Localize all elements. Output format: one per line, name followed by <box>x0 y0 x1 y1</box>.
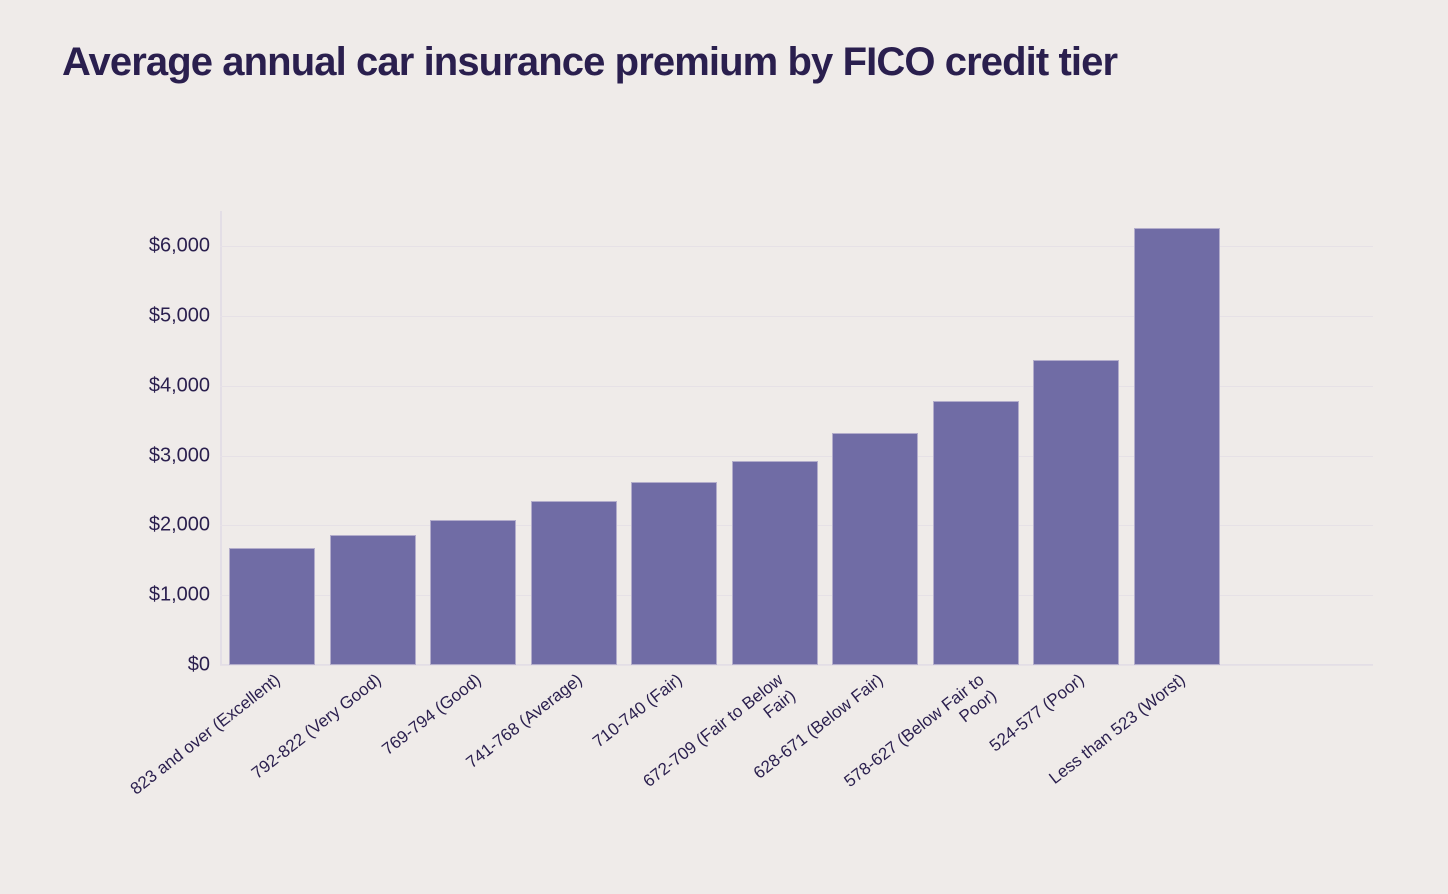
x-axis-tick-label: 769-794 (Good) <box>268 670 485 846</box>
x-axis-tick-label: 792-822 (Very Good) <box>168 670 385 846</box>
gridline <box>220 665 1373 666</box>
y-axis-tick-label: $3,000 <box>90 444 210 467</box>
y-axis-tick-label: $4,000 <box>90 374 210 397</box>
bar[interactable] <box>1033 360 1119 665</box>
bar[interactable] <box>330 535 416 665</box>
bar[interactable] <box>631 482 717 665</box>
x-axis-tick-label: 710-740 (Fair) <box>469 670 686 846</box>
y-axis-tick-label: $2,000 <box>90 514 210 537</box>
chart-figure: $0$1,000$2,000$3,000$4,000$5,000$6,000 8… <box>0 0 1448 894</box>
x-axis-tick-label: Less than 523 (Worst) <box>972 670 1189 846</box>
bar[interactable] <box>933 401 1019 665</box>
x-axis-tick-label: 741-768 (Average) <box>369 670 586 846</box>
y-axis-tick-label: $5,000 <box>90 304 210 327</box>
bar[interactable] <box>531 501 617 665</box>
y-axis-tick-label: $0 <box>90 654 210 677</box>
x-axis-tick-label: 823 and over (Excellent) <box>67 670 284 846</box>
bar[interactable] <box>732 461 818 665</box>
bar[interactable] <box>430 520 516 665</box>
y-axis-tick-label: $1,000 <box>90 584 210 607</box>
x-axis-tick-labels: 823 and over (Excellent)792-822 (Very Go… <box>220 670 1373 880</box>
plot-area <box>220 211 1373 665</box>
y-axis-tick-label: $6,000 <box>90 235 210 258</box>
bar[interactable] <box>229 548 315 665</box>
bars-layer <box>220 211 1373 665</box>
bar[interactable] <box>1134 228 1220 665</box>
chart-page: Average annual car insurance premium by … <box>0 0 1448 894</box>
bar[interactable] <box>832 433 918 665</box>
